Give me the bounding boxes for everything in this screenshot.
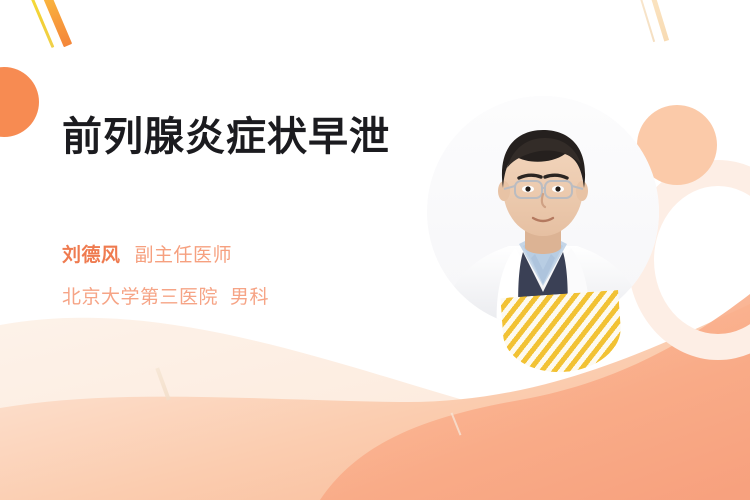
orange-circle-decoration (0, 67, 39, 137)
doctor-portrait (427, 96, 659, 328)
doctor-department: 男科 (230, 287, 269, 308)
orange-stripe-decoration (39, 0, 72, 47)
faint-stripe-decoration-b (648, 0, 669, 42)
doctor-hospital: 北京大学第三医院 (62, 287, 218, 308)
yellow-stripe-decoration (27, 0, 55, 48)
doctor-name: 刘德风 (62, 245, 121, 266)
doctor-video-cover-card: 前列腺炎症状早泄 刘德风副主任医师 北京大学第三医院男科 (0, 0, 750, 500)
faint-stripe-decoration-a (637, 0, 655, 42)
doctor-job-title: 副主任医师 (135, 245, 233, 266)
doctor-affiliation: 北京大学第三医院男科 (62, 288, 269, 307)
page-title: 前列腺炎症状早泄 (62, 112, 390, 162)
doctor-portrait-image (427, 96, 659, 328)
bottom-wave-decoration (0, 280, 750, 500)
doctor-byline: 刘德风副主任医师 (62, 246, 232, 265)
